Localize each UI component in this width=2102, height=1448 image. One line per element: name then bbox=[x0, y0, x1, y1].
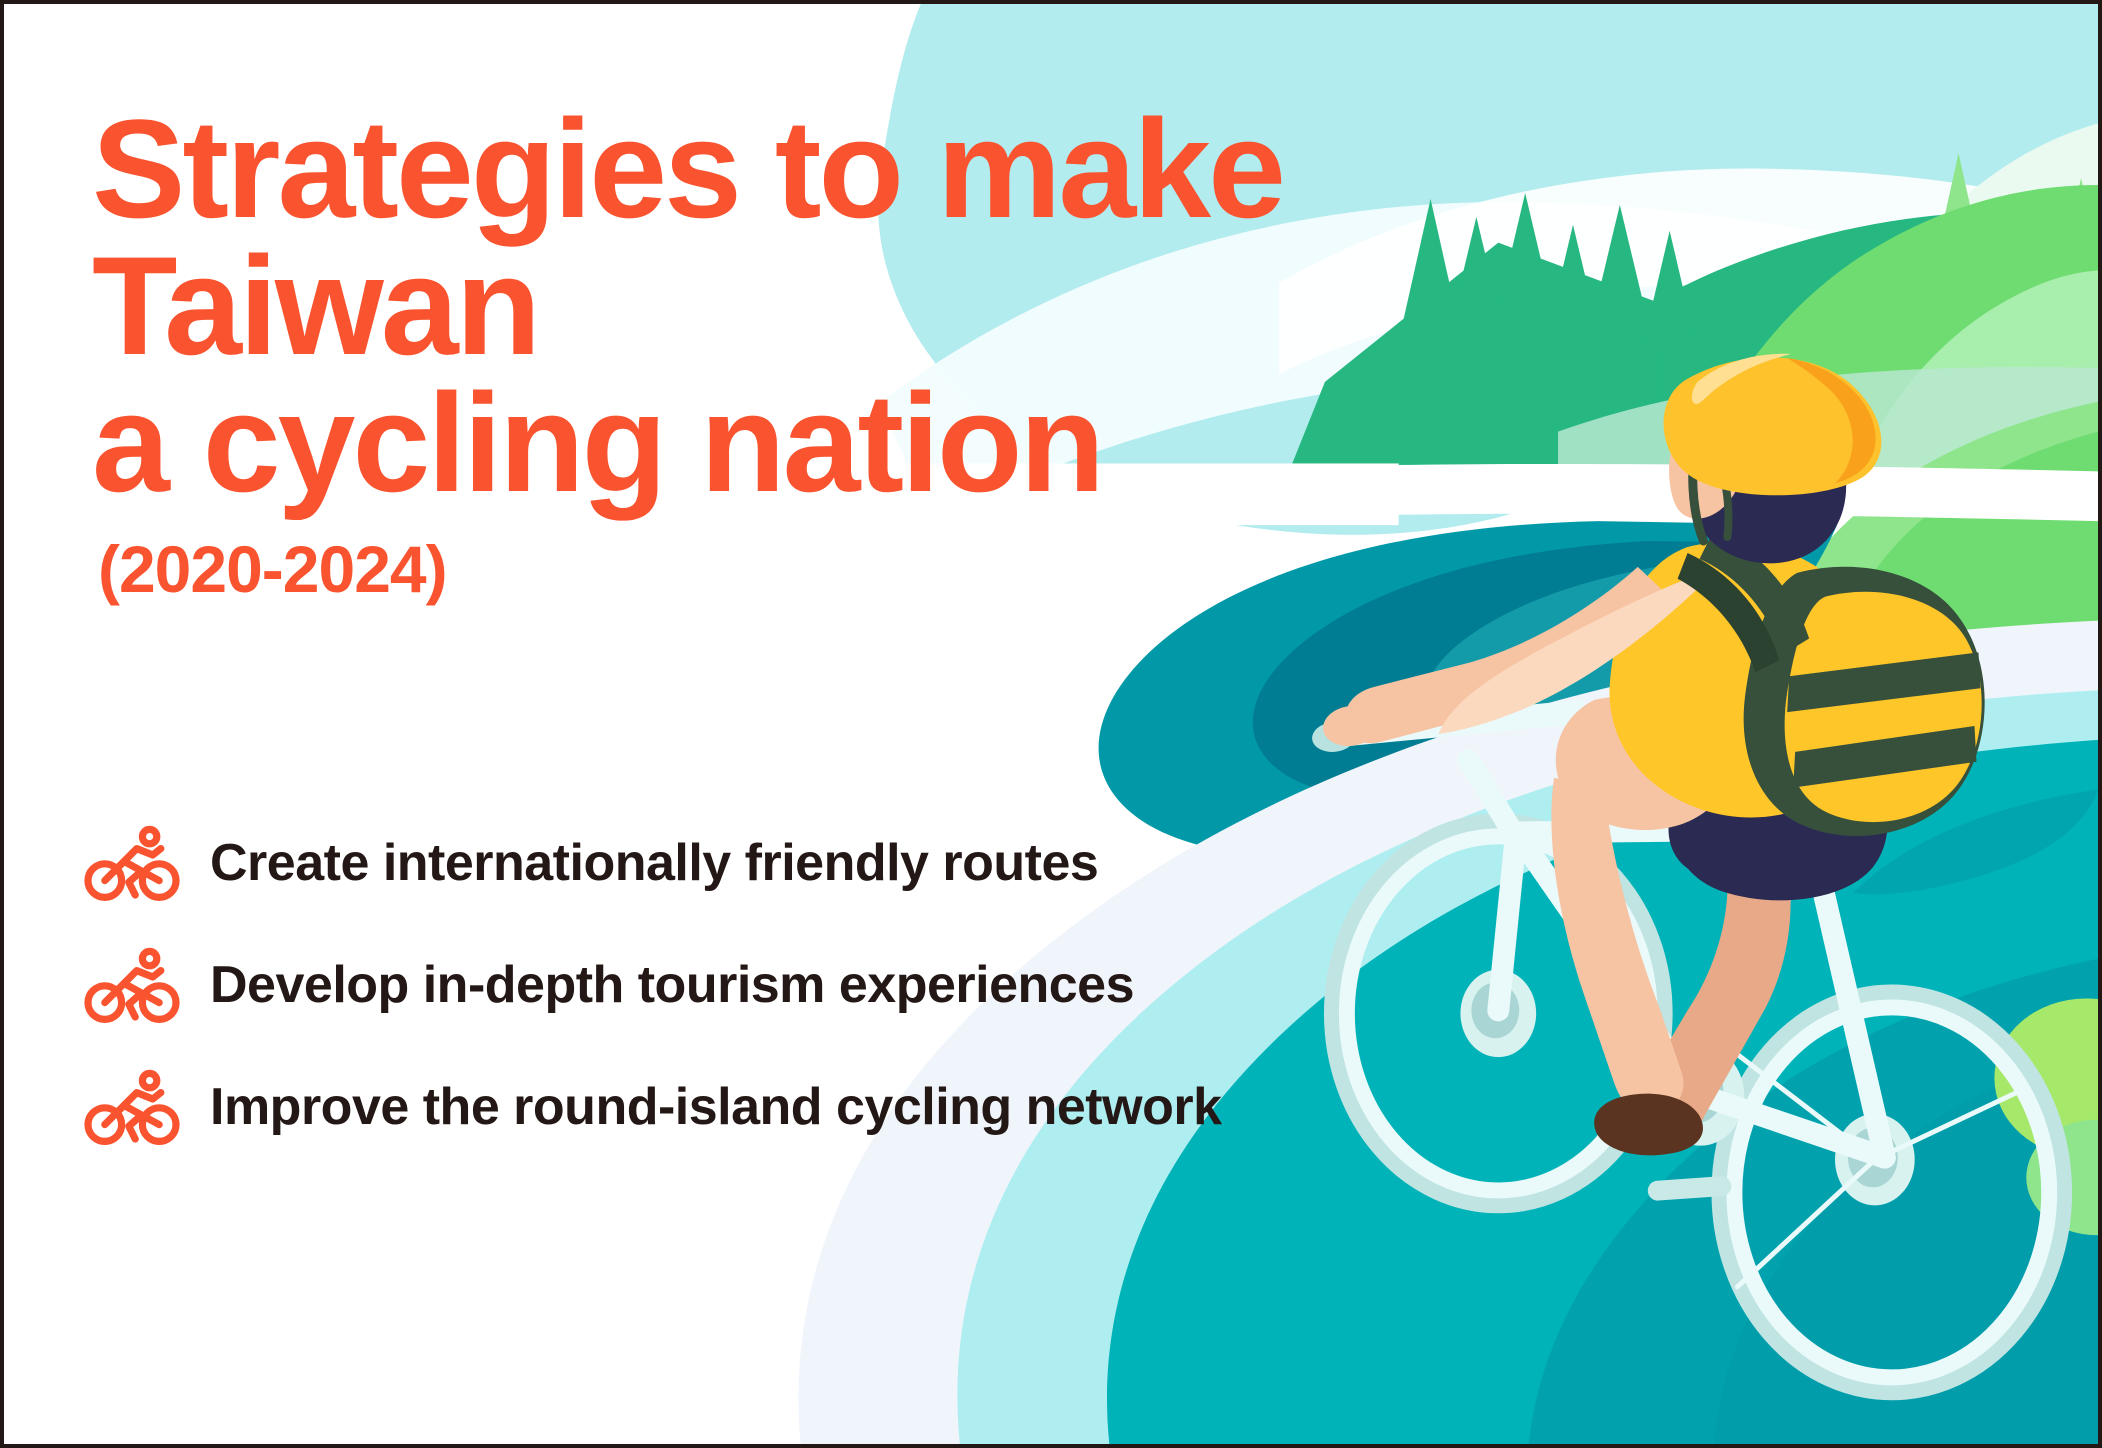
list-item: Develop in-depth tourism experiences bbox=[84, 946, 1404, 1024]
cyclist-icon bbox=[84, 946, 180, 1024]
strategy-list: Create internationally friendly routes D… bbox=[84, 824, 1404, 1146]
list-item-label: Improve the round-island cycling network bbox=[210, 1080, 1222, 1135]
list-item: Create internationally friendly routes bbox=[84, 824, 1404, 902]
cyclist-icon bbox=[84, 1068, 180, 1146]
page-title: Strategies to make Taiwan a cycling nati… bbox=[92, 100, 1392, 512]
list-item-label: Create internationally friendly routes bbox=[210, 836, 1098, 891]
list-item-label: Develop in-depth tourism experiences bbox=[210, 958, 1134, 1013]
title-block: Strategies to make Taiwan a cycling nati… bbox=[92, 100, 1392, 602]
list-item: Improve the round-island cycling network bbox=[84, 1068, 1404, 1146]
cyclist-icon bbox=[84, 824, 180, 902]
infographic-poster: Strategies to make Taiwan a cycling nati… bbox=[0, 0, 2102, 1448]
period-label: (2020-2024) bbox=[98, 536, 1392, 602]
